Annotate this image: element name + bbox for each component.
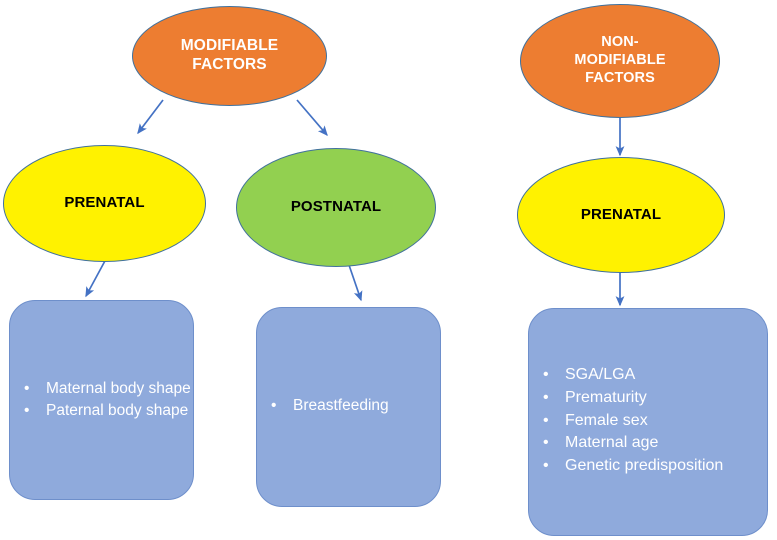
bullet-dot-icon: • bbox=[271, 396, 276, 416]
bullet-list-non-modifiable-prenatal: • SGA/LGA • Prematurity • Female sex • M… bbox=[529, 365, 767, 479]
list-item-text: Breastfeeding bbox=[293, 397, 389, 414]
node-modifiable-factors-label: MODIFIABLE FACTORS bbox=[181, 37, 278, 75]
bullet-dot-icon: • bbox=[24, 379, 29, 399]
bullet-list-modifiable-prenatal: • Maternal body shape • Paternal body sh… bbox=[10, 377, 193, 423]
list-item: • Maternal body shape bbox=[10, 379, 193, 399]
node-non-modifiable-factors-label: NON- MODIFIABLE FACTORS bbox=[574, 34, 665, 87]
node-modifiable-factors[interactable]: MODIFIABLE FACTORS bbox=[132, 6, 327, 106]
bullet-dot-icon: • bbox=[543, 388, 549, 409]
list-item-text: Maternal age bbox=[565, 434, 658, 451]
list-item-text: Prematurity bbox=[565, 389, 647, 406]
box-modifiable-postnatal-items[interactable]: • Breastfeeding bbox=[256, 307, 441, 507]
bullet-dot-icon: • bbox=[543, 433, 549, 454]
list-item: • Breastfeeding bbox=[257, 396, 440, 416]
bullet-list-modifiable-postnatal: • Breastfeeding bbox=[257, 396, 440, 418]
list-item-text: Female sex bbox=[565, 412, 648, 429]
list-item-text: Paternal body shape bbox=[46, 402, 188, 419]
node-non-modifiable-factors-line2: MODIFIABLE bbox=[574, 52, 665, 70]
node-non-modifiable-factors-line1: NON- bbox=[574, 34, 665, 52]
list-item: • SGA/LGA bbox=[529, 365, 767, 386]
list-item: • Paternal body shape bbox=[10, 401, 193, 421]
arrow-modifiable-to-postnatal bbox=[297, 100, 327, 135]
list-item: • Prematurity bbox=[529, 388, 767, 409]
node-non-modifiable-prenatal[interactable]: PRENATAL bbox=[517, 157, 725, 273]
node-modifiable-postnatal-label: POSTNATAL bbox=[291, 198, 381, 216]
bullet-dot-icon: • bbox=[24, 401, 29, 421]
arrow-modifiable-to-prenatal bbox=[138, 100, 163, 133]
node-non-modifiable-factors-line3: FACTORS bbox=[574, 70, 665, 88]
list-item-text: Maternal body shape bbox=[46, 380, 191, 397]
arrow-prenatal-to-box bbox=[86, 259, 106, 296]
node-non-modifiable-factors[interactable]: NON- MODIFIABLE FACTORS bbox=[520, 4, 720, 118]
bullet-dot-icon: • bbox=[543, 411, 549, 432]
box-non-modifiable-prenatal-items[interactable]: • SGA/LGA • Prematurity • Female sex • M… bbox=[528, 308, 768, 536]
box-modifiable-prenatal-items[interactable]: • Maternal body shape • Paternal body sh… bbox=[9, 300, 194, 500]
bullet-dot-icon: • bbox=[543, 365, 549, 386]
node-non-modifiable-prenatal-label: PRENATAL bbox=[581, 206, 661, 224]
node-modifiable-prenatal-label: PRENATAL bbox=[64, 194, 144, 212]
node-modifiable-postnatal[interactable]: POSTNATAL bbox=[236, 148, 436, 267]
arrow-postnatal-to-box bbox=[349, 265, 361, 300]
list-item-text: Genetic predisposition bbox=[565, 457, 723, 474]
list-item: • Maternal age bbox=[529, 433, 767, 454]
node-modifiable-factors-line1: MODIFIABLE bbox=[181, 37, 278, 56]
list-item: • Female sex bbox=[529, 411, 767, 432]
diagram-canvas: MODIFIABLE FACTORS NON- MODIFIABLE FACTO… bbox=[0, 0, 777, 540]
list-item-text: SGA/LGA bbox=[565, 366, 635, 383]
list-item: • Genetic predisposition bbox=[529, 456, 767, 477]
bullet-dot-icon: • bbox=[543, 456, 549, 477]
node-modifiable-factors-line2: FACTORS bbox=[181, 56, 278, 75]
node-modifiable-prenatal[interactable]: PRENATAL bbox=[3, 145, 206, 262]
